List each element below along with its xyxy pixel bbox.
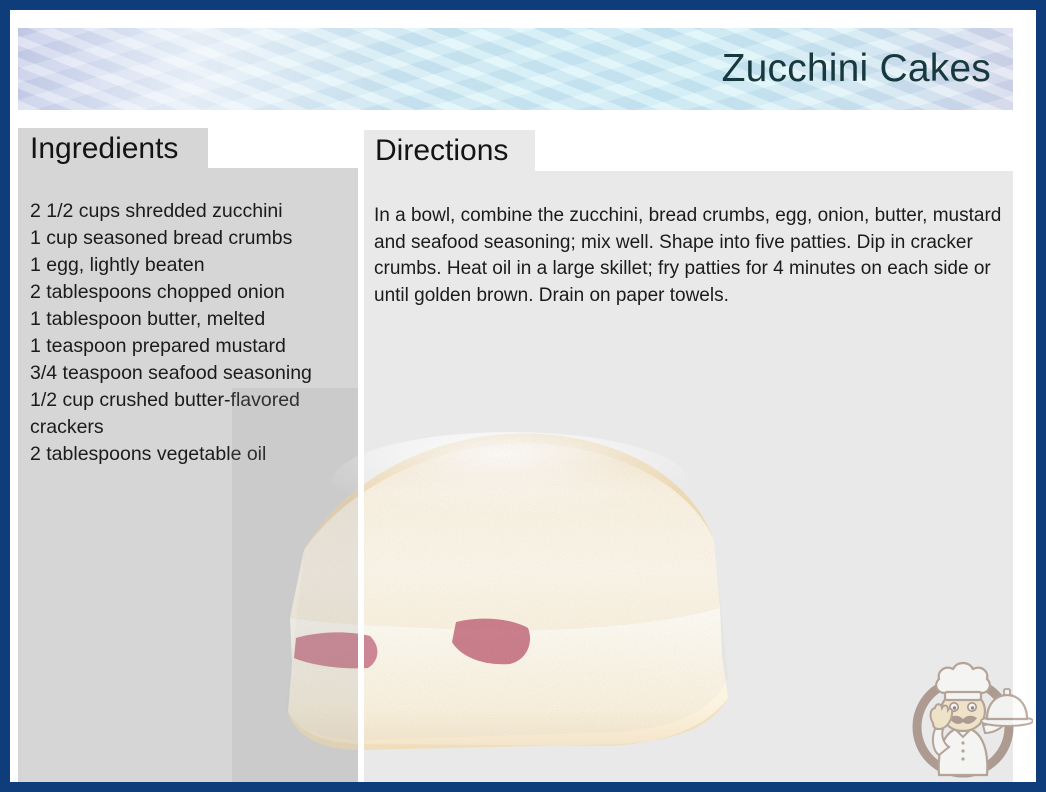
- recipe-card: Zucchini Cakes 2 1/2 cups shredded zucch…: [0, 0, 1046, 792]
- ingredient-item: 1 tablespoon butter, melted: [30, 306, 358, 333]
- chef-logo: [903, 655, 1033, 782]
- ingredient-item: 3/4 teaspoon seafood seasoning: [30, 360, 358, 387]
- panel-divider: [358, 128, 364, 782]
- ingredient-item: 1/2 cup crushed butter-flavored crackers: [30, 387, 358, 441]
- ingredients-section-tab: Ingredients: [18, 128, 208, 170]
- ingredients-list: 2 1/2 cups shredded zucchini 1 cup seaso…: [30, 198, 358, 468]
- ingredient-item: 1 egg, lightly beaten: [30, 252, 358, 279]
- directions-section-tab: Directions: [363, 130, 535, 172]
- ingredient-item: 2 tablespoons chopped onion: [30, 279, 358, 306]
- directions-heading: Directions: [375, 136, 508, 166]
- ingredient-item: 2 tablespoons vegetable oil: [30, 441, 358, 468]
- ingredient-item: 1 teaspoon prepared mustard: [30, 333, 358, 360]
- ingredient-item: 2 1/2 cups shredded zucchini: [30, 198, 358, 225]
- ingredients-heading: Ingredients: [30, 134, 178, 164]
- ingredient-item: 1 cup seasoned bread crumbs: [30, 225, 358, 252]
- header-banner: Zucchini Cakes: [18, 28, 1013, 110]
- directions-body: In a bowl, combine the zucchini, bread c…: [374, 203, 1013, 309]
- recipe-card-inner: Zucchini Cakes 2 1/2 cups shredded zucch…: [10, 10, 1036, 782]
- page-title: Zucchini Cakes: [722, 47, 991, 91]
- ingredients-panel: 2 1/2 cups shredded zucchini 1 cup seaso…: [18, 168, 358, 782]
